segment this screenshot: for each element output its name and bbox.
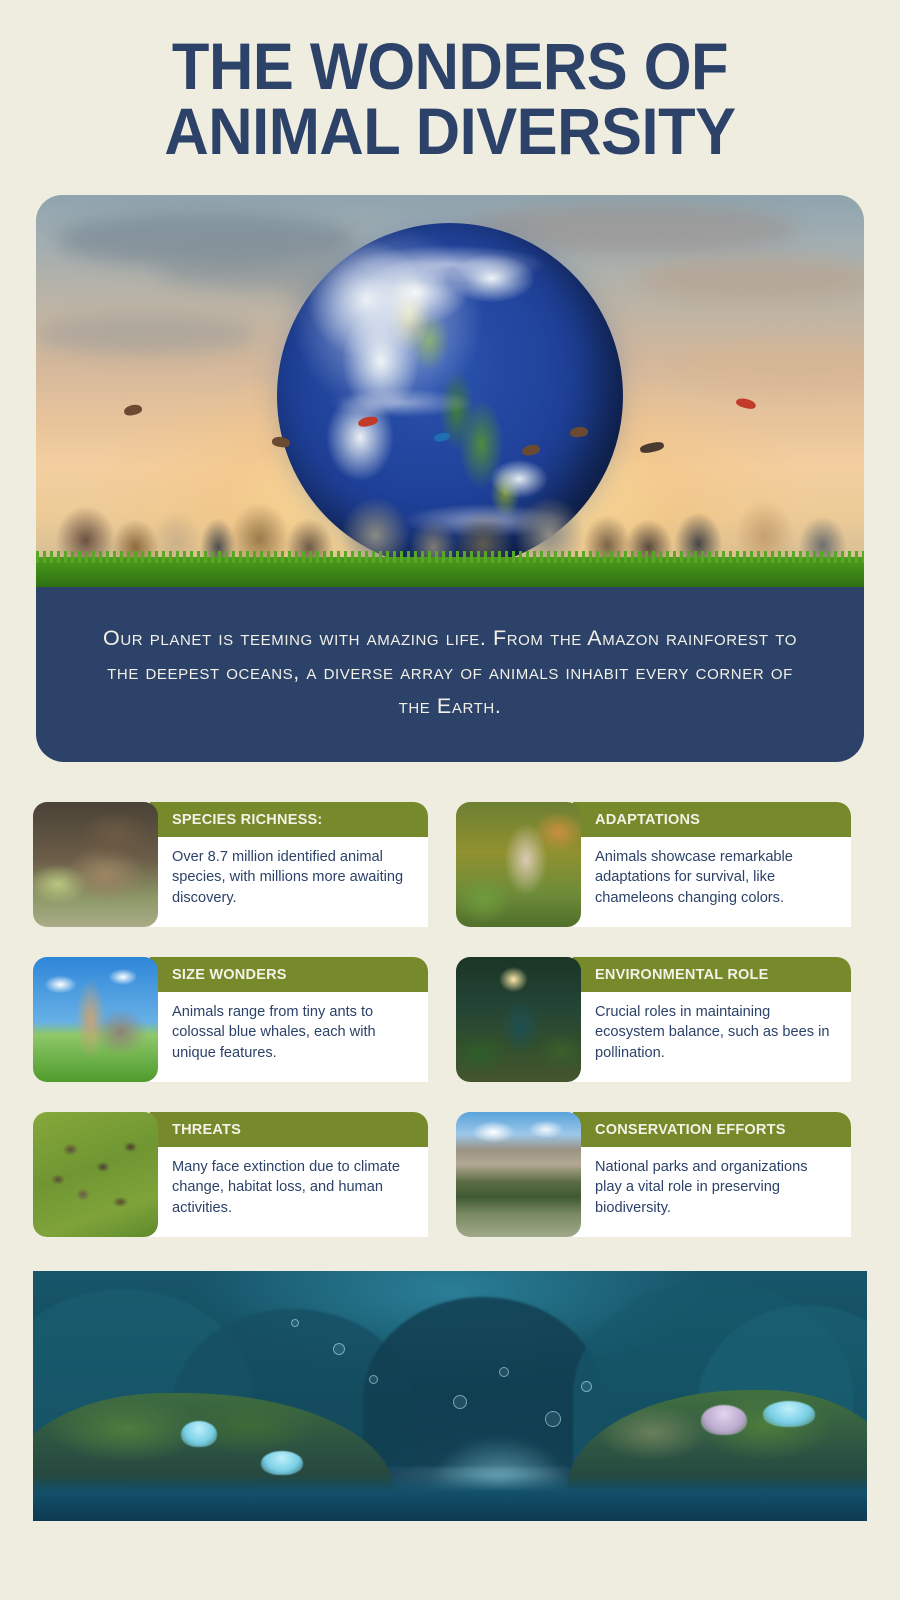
fact-card-body: SIZE WONDERS Animals range from tiny ant…	[150, 957, 428, 1082]
jellyfish-icon	[261, 1451, 303, 1475]
fact-card-threats[interactable]: THREATS Many face extinction due to clim…	[33, 1112, 428, 1237]
fact-card-text: Animals range from tiny ants to colossal…	[150, 992, 428, 1082]
fact-card-heading: SPECIES RICHNESS:	[150, 802, 428, 837]
herd-thumbnail	[33, 1112, 158, 1237]
fact-card-body: SPECIES RICHNESS: Over 8.7 million ident…	[150, 802, 428, 927]
jellyfish-icon	[181, 1421, 217, 1447]
intro-panel: Our planet is teeming with amazing life.…	[36, 586, 864, 762]
fact-card-heading: CONSERVATION EFFORTS	[573, 1112, 851, 1147]
fact-card-size-wonders[interactable]: SIZE WONDERS Animals range from tiny ant…	[33, 957, 428, 1082]
fact-card-conservation-efforts[interactable]: CONSERVATION EFFORTS National parks and …	[456, 1112, 851, 1237]
fact-card-environmental-role[interactable]: ENVIRONMENTAL ROLE Crucial roles in main…	[456, 957, 851, 1082]
fact-card-heading: THREATS	[150, 1112, 428, 1147]
page-title-line-2: ANIMAL DIVERSITY	[87, 99, 812, 164]
fact-card-heading-text: SIZE WONDERS	[172, 966, 287, 983]
hero-image	[36, 195, 864, 587]
giraffe-elephant-thumbnail	[33, 957, 158, 1082]
tortoise-thumbnail	[33, 802, 158, 927]
jellyfish-icon	[763, 1401, 815, 1427]
kangaroo-thumbnail	[456, 802, 581, 927]
page-title: THE WONDERS OF ANIMAL DIVERSITY	[0, 0, 900, 163]
mountains-thumbnail	[456, 1112, 581, 1237]
fact-card-body: ENVIRONMENTAL ROLE Crucial roles in main…	[573, 957, 851, 1082]
fact-card-body: THREATS Many face extinction due to clim…	[150, 1112, 428, 1237]
fact-card-heading-text: ENVIRONMENTAL ROLE	[595, 966, 769, 983]
anemone-icon	[701, 1405, 747, 1435]
fact-card-body: ADAPTATIONS Animals showcase remarkable …	[573, 802, 851, 927]
grass-strip	[36, 557, 864, 587]
fact-card-text: Over 8.7 million identified animal speci…	[150, 837, 428, 927]
fact-card-heading-text: SPECIES RICHNESS:	[172, 811, 322, 828]
intro-text: Our planet is teeming with amazing life.…	[98, 622, 802, 724]
fact-card-body: CONSERVATION EFFORTS National parks and …	[573, 1112, 851, 1237]
forest-thumbnail	[456, 957, 581, 1082]
fact-card-heading-text: CONSERVATION EFFORTS	[595, 1121, 786, 1138]
fact-card-text: Crucial roles in maintaining ecosystem b…	[573, 992, 851, 1082]
fact-card-grid: SPECIES RICHNESS: Over 8.7 million ident…	[33, 802, 867, 1237]
fact-card-heading: ENVIRONMENTAL ROLE	[573, 957, 851, 992]
fact-card-heading: SIZE WONDERS	[150, 957, 428, 992]
fact-card-heading: ADAPTATIONS	[573, 802, 851, 837]
fact-card-text: National parks and organizations play a …	[573, 1147, 851, 1237]
ocean-floor	[33, 1475, 867, 1521]
fact-card-adaptations[interactable]: ADAPTATIONS Animals showcase remarkable …	[456, 802, 851, 927]
page-title-line-1: THE WONDERS OF	[87, 34, 812, 99]
fact-card-heading-text: ADAPTATIONS	[595, 811, 700, 828]
fact-card-text: Animals showcase remarkable adaptations …	[573, 837, 851, 927]
fact-card-text: Many face extinction due to climate chan…	[150, 1147, 428, 1237]
footer-underwater-image	[33, 1271, 867, 1521]
fact-card-species-richness[interactable]: SPECIES RICHNESS: Over 8.7 million ident…	[33, 802, 428, 927]
fact-card-heading-text: THREATS	[172, 1121, 241, 1138]
